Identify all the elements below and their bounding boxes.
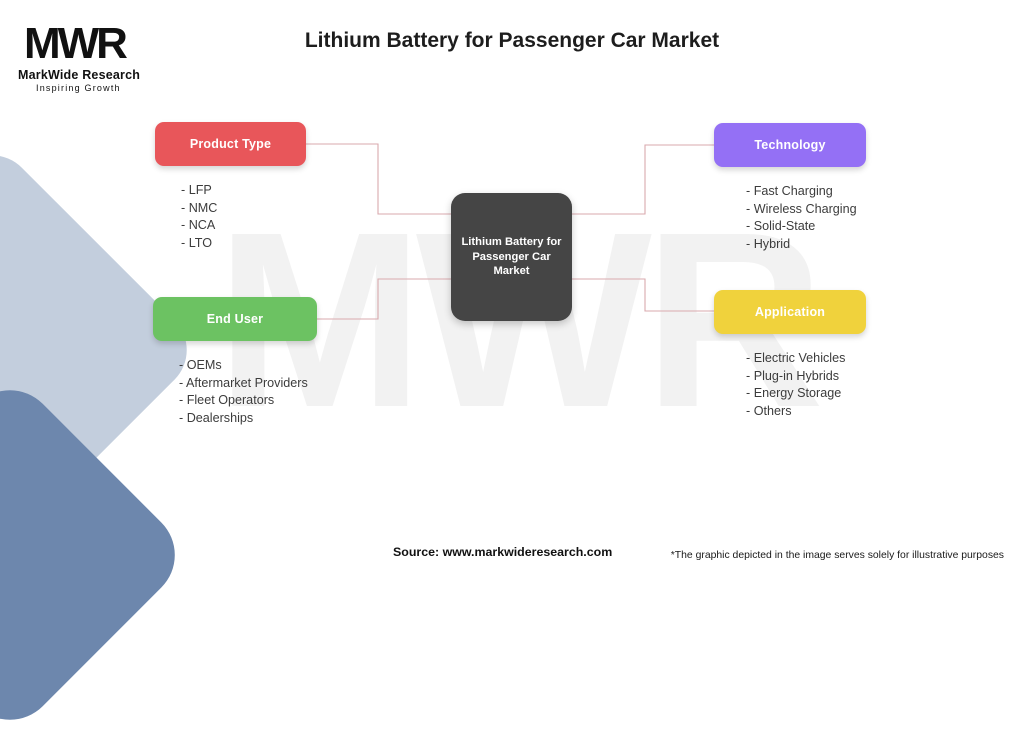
node-end-user: End User - OEMs - Aftermarket Providers … <box>153 297 317 427</box>
list-item: - Fleet Operators <box>179 392 317 410</box>
connector-product-type <box>306 144 451 214</box>
list-item: - Hybrid <box>746 236 866 254</box>
node-technology-items: - Fast Charging - Wireless Charging - So… <box>714 183 866 253</box>
logo-tagline: Inspiring Growth <box>18 83 218 93</box>
node-end-user-items: - OEMs - Aftermarket Providers - Fleet O… <box>153 357 317 427</box>
list-item: - Plug-in Hybrids <box>746 368 866 386</box>
list-item: - OEMs <box>179 357 317 375</box>
footer-disclaimer: *The graphic depicted in the image serve… <box>671 550 1004 561</box>
list-item: - NCA <box>181 217 306 235</box>
connector-technology <box>572 145 714 214</box>
node-product-type-items: - LFP - NMC - NCA - LTO <box>155 182 306 252</box>
node-application-items: - Electric Vehicles - Plug-in Hybrids - … <box>714 350 866 420</box>
node-application-chip[interactable]: Application <box>714 290 866 334</box>
footer-source: Source: www.markwideresearch.com <box>393 545 612 559</box>
list-item: - Fast Charging <box>746 183 866 201</box>
node-product-type: Product Type - LFP - NMC - NCA - LTO <box>155 122 306 252</box>
node-application: Application - Electric Vehicles - Plug-i… <box>714 290 866 420</box>
list-item: - Wireless Charging <box>746 201 866 219</box>
page-title: Lithium Battery for Passenger Car Market <box>0 29 1024 53</box>
logo-company-name: MarkWide Research <box>18 68 218 82</box>
list-item: - LFP <box>181 182 306 200</box>
list-item: - Dealerships <box>179 410 317 428</box>
connector-end-user <box>317 279 451 319</box>
list-item: - LTO <box>181 235 306 253</box>
node-technology-chip[interactable]: Technology <box>714 123 866 167</box>
list-item: - Others <box>746 403 866 421</box>
list-item: - Energy Storage <box>746 385 866 403</box>
node-technology: Technology - Fast Charging - Wireless Ch… <box>714 123 866 253</box>
connector-application <box>572 279 714 311</box>
hub-label: Lithium Battery for Passenger Car Market <box>451 235 572 279</box>
list-item: - Solid-State <box>746 218 866 236</box>
list-item: - Aftermarket Providers <box>179 375 317 393</box>
hub-node: Lithium Battery for Passenger Car Market <box>451 193 572 321</box>
node-end-user-chip[interactable]: End User <box>153 297 317 341</box>
node-product-type-chip[interactable]: Product Type <box>155 122 306 166</box>
list-item: - NMC <box>181 200 306 218</box>
list-item: - Electric Vehicles <box>746 350 866 368</box>
